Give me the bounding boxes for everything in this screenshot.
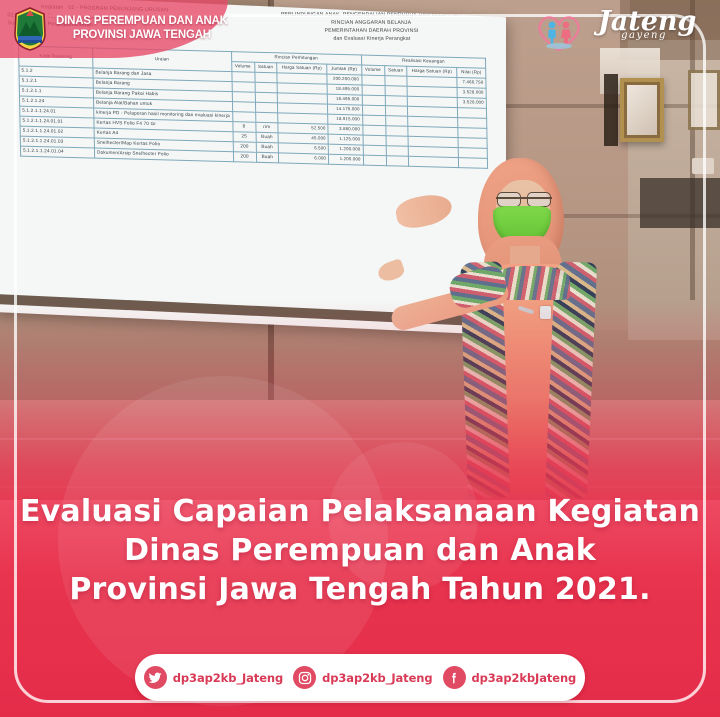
- cell-rvolume: [363, 145, 386, 156]
- cell-rvolume: [362, 115, 385, 126]
- social-item-facebook[interactable]: dp3ap2kbJateng: [443, 666, 577, 689]
- cell-satuan: Buah: [256, 132, 278, 143]
- cell-satuan: [255, 92, 277, 103]
- col-volume: Volume: [231, 61, 254, 71]
- slide-rh-line-4: dan Evaluasi Kinerja Perangkat: [247, 35, 497, 44]
- cell-rsatuan: [385, 115, 407, 126]
- slide-right-header: PERLINDUNGAN ANAK, PENGENDALIAN PENDUDUK…: [246, 11, 497, 44]
- central-java-emblem-icon: [8, 6, 52, 52]
- wall-outlet: [692, 158, 714, 174]
- cell-rvolume: [361, 75, 384, 86]
- cell-harga: 6.000: [278, 153, 328, 164]
- certificate-frame: [688, 70, 720, 130]
- dark-cabinet: [640, 178, 720, 228]
- title-line-3: Provinsi Jawa Tengah Tahun 2021.: [0, 570, 720, 609]
- cell-rsatuan: [385, 75, 407, 86]
- col-r-satuan: Satuan: [384, 65, 406, 75]
- cell-rsatuan: [386, 135, 408, 146]
- women-and-children-logo-icon: [528, 6, 590, 54]
- twitter-handle[interactable]: dp3ap2kb_Jateng: [173, 671, 283, 685]
- social-media-poster: Kegiatan 02 - PROGRAM PENUNJANG URUSAN 0…: [0, 0, 720, 717]
- budget-table-body: 5.1.2Belanja Barang dan Jasa200.200.0007…: [19, 66, 488, 169]
- cell-rsatuan: [386, 145, 408, 156]
- cell-rsatuan: [385, 105, 407, 116]
- cell-rvolume: [362, 105, 385, 116]
- title-line-2: Dinas Perempuan dan Anak: [0, 531, 720, 570]
- facebook-handle[interactable]: dp3ap2kbJateng: [472, 671, 577, 685]
- cell-volume: 25: [233, 131, 256, 142]
- cell-kode: 5.1.2.1.1.24.01.04: [20, 146, 94, 158]
- jateng-gayeng-logo: Jateng gayeng: [598, 8, 690, 54]
- cell-satuan: [255, 72, 277, 83]
- poster-title: Evaluasi Capaian Pelaksanaan Kegiatan Di…: [0, 492, 720, 609]
- cell-satuan: [255, 102, 277, 113]
- cell-satuan: [255, 112, 277, 123]
- cell-satuan: [255, 82, 277, 93]
- cell-satuan: Buah: [256, 142, 278, 153]
- cell-rvolume: [362, 85, 385, 96]
- cell-satuan: Buah: [256, 152, 278, 163]
- col-r-volume: Volume: [361, 65, 384, 75]
- framed-picture: [620, 78, 664, 142]
- twitter-icon[interactable]: [144, 666, 167, 689]
- instagram-icon[interactable]: [293, 666, 316, 689]
- social-item-twitter[interactable]: dp3ap2kb_Jateng: [144, 666, 283, 689]
- instagram-handle[interactable]: dp3ap2kb_Jateng: [322, 671, 432, 685]
- cell-volume: [232, 91, 255, 102]
- org-title-line1: DINAS PEREMPUAN DAN ANAK: [56, 15, 228, 27]
- social-media-bar: dp3ap2kb_Jateng dp3ap2kb_Jateng dp3ap2kb…: [135, 654, 585, 701]
- wall-shadow-strip: [604, 74, 618, 146]
- cell-jumlah: 1.200.000: [329, 154, 364, 165]
- presenter-glasses-bridge: [496, 197, 552, 199]
- cell-volume: 200: [233, 151, 256, 162]
- org-title-line2: PROVINSI JAWA TENGAH: [56, 29, 228, 43]
- cell-rvolume: [362, 95, 385, 106]
- org-title: DINAS PEREMPUAN DAN ANAK PROVINSI JAWA T…: [56, 15, 228, 42]
- facebook-icon[interactable]: [443, 666, 466, 689]
- cell-rvolume: [363, 135, 386, 146]
- cell-rvolume: [362, 125, 385, 136]
- cell-volume: [232, 81, 255, 92]
- cell-rvolume: [363, 155, 386, 166]
- cell-volume: [232, 101, 255, 112]
- title-line-1: Evaluasi Capaian Pelaksanaan Kegiatan: [0, 492, 720, 531]
- col-satuan: Satuan: [254, 62, 276, 72]
- cell-volume: 8: [232, 121, 255, 132]
- picture-canvas: [627, 85, 657, 135]
- cell-volume: 200: [233, 141, 256, 152]
- cell-rsatuan: [386, 125, 408, 136]
- budget-table: Kode Rekening Uraian Rincian Perhitungan…: [18, 46, 488, 169]
- cell-volume: [232, 111, 255, 122]
- cell-satuan: rim: [256, 122, 278, 133]
- cell-volume: [231, 71, 254, 82]
- presenter-id-badge: [540, 306, 551, 319]
- social-item-instagram[interactable]: dp3ap2kb_Jateng: [293, 666, 432, 689]
- cell-rsatuan: [385, 85, 407, 96]
- cell-rsatuan: [385, 95, 407, 106]
